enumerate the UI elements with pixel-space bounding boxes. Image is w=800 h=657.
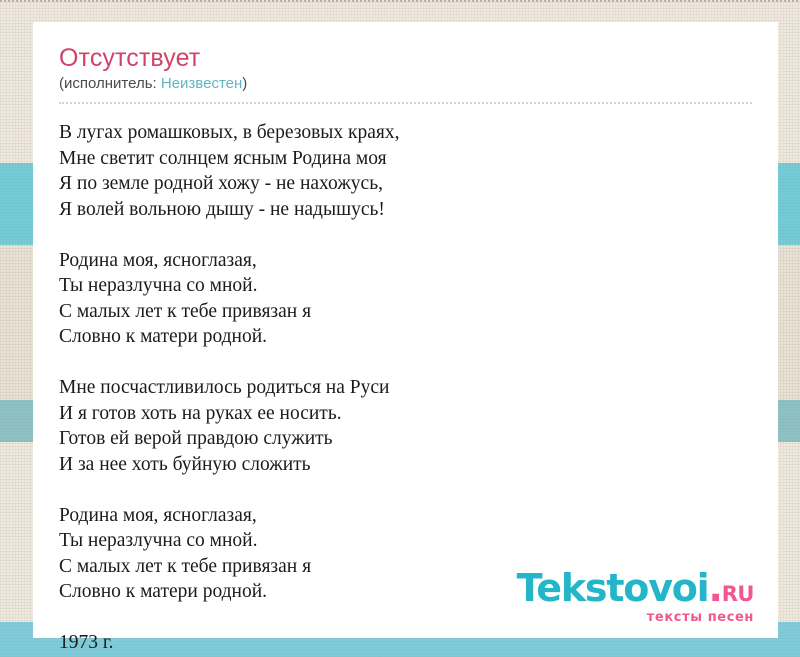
lyrics-stanza: В лугах ромашковых, в березовых краях,Мн… — [59, 120, 752, 222]
lyrics-stanza: Родина моя, ясноглазая,Ты неразлучна со … — [59, 248, 752, 350]
top-dotted-rule — [0, 0, 800, 2]
logo-tld: RU — [722, 582, 754, 606]
logo-word: Tekstovoi — [517, 566, 709, 610]
lyrics-stanza: 1973 г. — [59, 630, 752, 656]
lyrics-line: С малых лет к тебе привязан я — [59, 299, 752, 325]
logo-wordmark: Tekstovoi.RU — [517, 569, 754, 607]
song-title: Отсутствует — [59, 44, 752, 72]
artist-link[interactable]: Неизвестен — [161, 75, 242, 92]
lyrics-line: Словно к матери родной. — [59, 324, 752, 350]
artist-label: (исполнитель: — [59, 75, 161, 92]
lyrics-stanza: Мне посчастливилось родиться на РусиИ я … — [59, 375, 752, 477]
lyrics-line: Родина моя, ясноглазая, — [59, 248, 752, 274]
lyrics-line: Готов ей верой правдою служить — [59, 426, 752, 452]
lyrics-card: Отсутствует (исполнитель: Неизвестен) В … — [33, 22, 778, 638]
song-header: Отсутствует (исполнитель: Неизвестен) — [59, 44, 752, 104]
site-logo[interactable]: Tekstovoi.RU тексты песен — [517, 569, 754, 624]
logo-tagline: тексты песен — [517, 611, 754, 624]
lyrics-line: Я волей вольною дышу - не надышусь! — [59, 197, 752, 223]
lyrics-line: Родина моя, ясноглазая, — [59, 503, 752, 529]
artist-suffix: ) — [242, 75, 247, 92]
lyrics-line: Я по земле родной хожу - не нахожусь, — [59, 171, 752, 197]
lyrics-line: Ты неразлучна со мной. — [59, 273, 752, 299]
artist-line: (исполнитель: Неизвестен) — [59, 75, 752, 93]
lyrics-line: В лугах ромашковых, в березовых краях, — [59, 120, 752, 146]
lyrics-line: Мне светит солнцем ясным Родина моя — [59, 146, 752, 172]
lyrics-line: Ты неразлучна со мной. — [59, 528, 752, 554]
lyrics-line: И я готов хоть на руках ее носить. — [59, 401, 752, 427]
logo-dot: . — [709, 566, 722, 610]
lyrics-line: И за нее хоть буйную сложить — [59, 452, 752, 478]
lyrics-line: 1973 г. — [59, 630, 752, 656]
lyrics-line: Мне посчастливилось родиться на Руси — [59, 375, 752, 401]
